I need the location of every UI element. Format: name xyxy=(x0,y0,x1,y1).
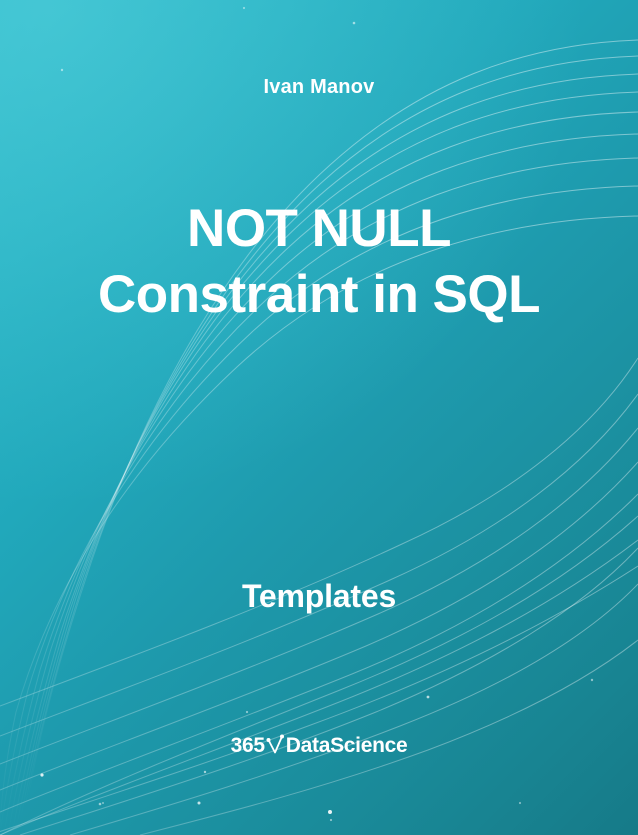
brand-number: 365 xyxy=(231,735,265,756)
cover-content: Ivan Manov NOT NULL Constraint in SQL Te… xyxy=(0,0,638,835)
cover-page: Ivan Manov NOT NULL Constraint in SQL Te… xyxy=(0,0,638,835)
data-trend-checkmark-icon xyxy=(266,734,285,756)
page-title: NOT NULL Constraint in SQL xyxy=(0,196,638,328)
title-line-2: Constraint in SQL xyxy=(0,262,638,328)
title-line-1: NOT NULL xyxy=(0,196,638,262)
brand-word: DataScience xyxy=(286,735,408,756)
subtitle: Templates xyxy=(0,578,638,615)
brand-logo: 365 DataScience xyxy=(0,734,638,756)
author-name: Ivan Manov xyxy=(0,76,638,99)
